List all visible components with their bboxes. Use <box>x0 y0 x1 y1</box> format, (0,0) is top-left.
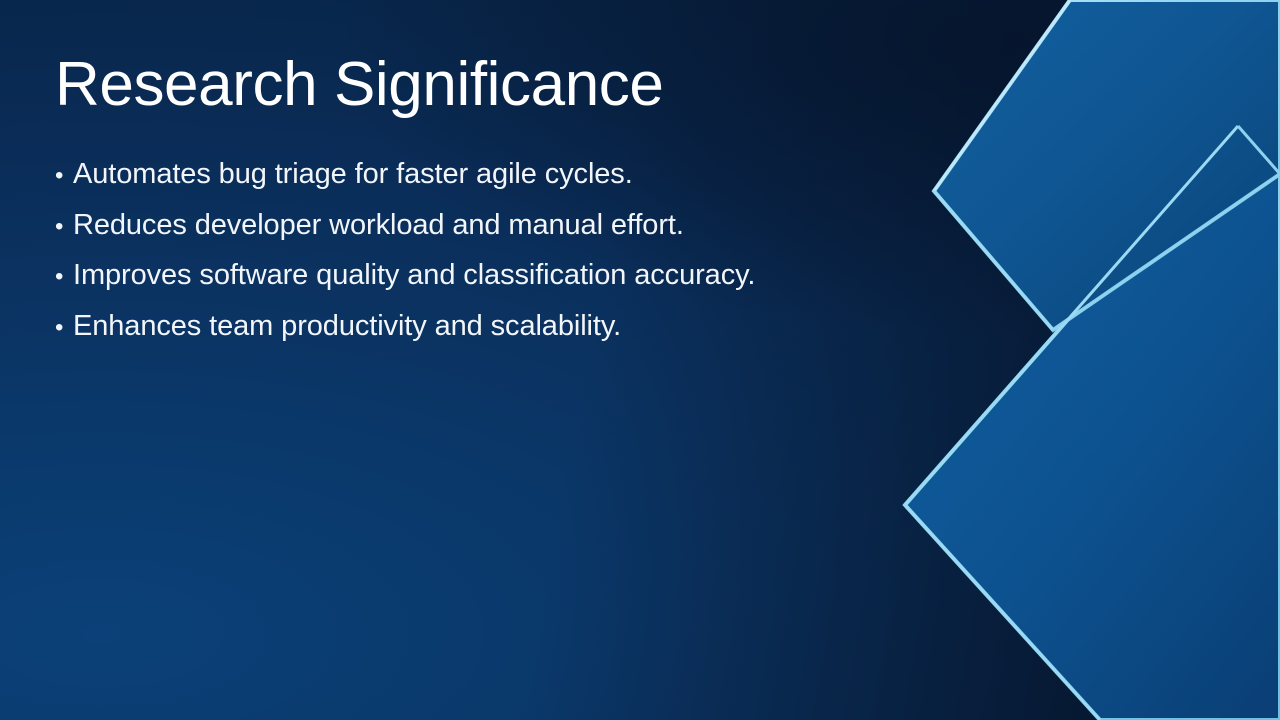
list-item: • Automates bug triage for faster agile … <box>55 150 935 201</box>
bullet-icon: • <box>55 304 73 353</box>
bullet-icon: • <box>55 253 73 302</box>
list-item-label: Enhances team productivity and scalabili… <box>73 302 621 351</box>
list-item: • Reduces developer workload and manual … <box>55 201 935 252</box>
slide-content: Research Significance • Automates bug tr… <box>0 0 1280 720</box>
list-item: • Improves software quality and classifi… <box>55 251 935 302</box>
list-item-label: Reduces developer workload and manual ef… <box>73 201 684 250</box>
bullet-list: • Automates bug triage for faster agile … <box>55 150 935 352</box>
bullet-icon: • <box>55 203 73 252</box>
list-item-label: Improves software quality and classifica… <box>73 251 755 300</box>
bullet-icon: • <box>55 152 73 201</box>
list-item: • Enhances team productivity and scalabi… <box>55 302 935 353</box>
page-title: Research Significance <box>55 50 663 119</box>
list-item-label: Automates bug triage for faster agile cy… <box>73 150 633 199</box>
slide: Research Significance • Automates bug tr… <box>0 0 1280 720</box>
